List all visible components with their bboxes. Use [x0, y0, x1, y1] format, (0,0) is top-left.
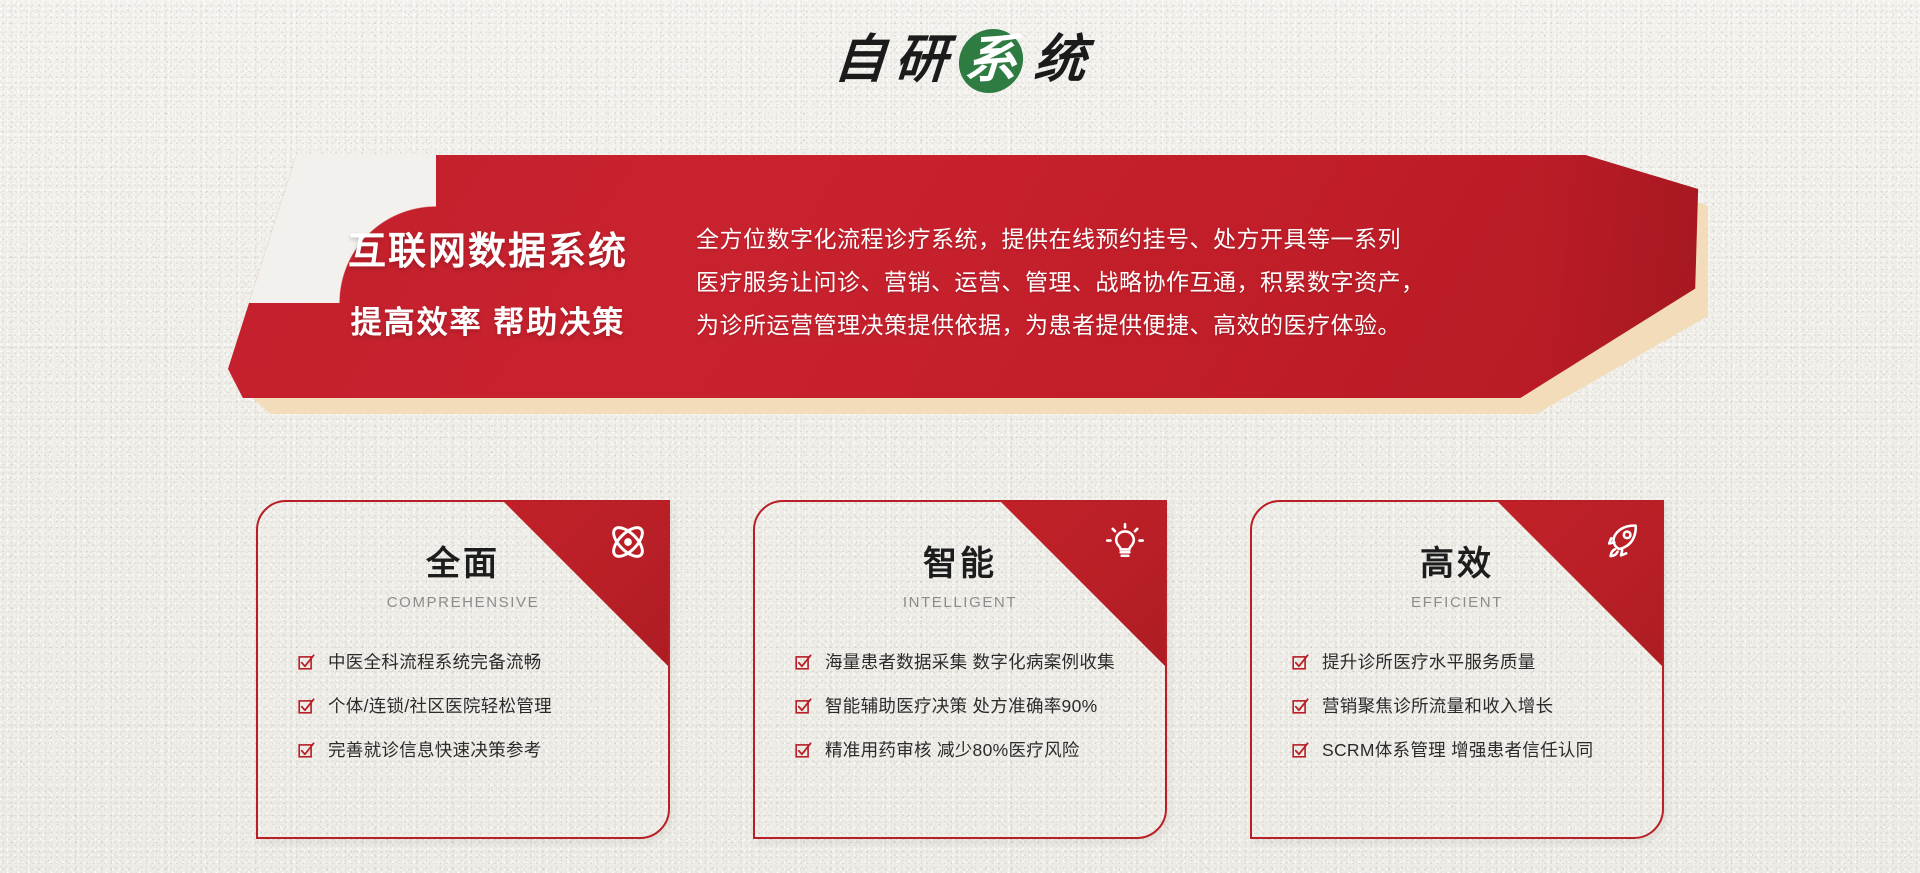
- checkbox-check-icon: [298, 654, 315, 671]
- card-feature-list: 提升诊所医疗水平服务质量 营销聚焦诊所流量和收入增长: [1252, 651, 1662, 761]
- list-item: 智能辅助医疗决策 处方准确率90%: [795, 695, 1165, 718]
- list-item-text: 中医全科流程系统完备流畅: [328, 651, 542, 674]
- list-item: 个体/连锁/社区医院轻松管理: [298, 695, 668, 718]
- list-item-text: SCRM体系管理 增强患者信任认同: [1322, 739, 1594, 762]
- checkbox-check-icon: [298, 698, 315, 715]
- list-item: 精准用药审核 减少80%医疗风险: [795, 739, 1165, 762]
- list-item: 中医全科流程系统完备流畅: [298, 651, 668, 674]
- logo-char-1: 自: [833, 35, 889, 87]
- logo-char-2: 研: [894, 35, 950, 87]
- hero-title: 互联网数据系统: [288, 229, 688, 277]
- checkbox-check-icon: [1292, 654, 1309, 671]
- feature-card-comprehensive[interactable]: 全面 COMPREHENSIVE 中医全科流程系统完备流畅: [256, 500, 670, 839]
- list-item: 海量患者数据采集 数字化病案例收集: [795, 651, 1165, 674]
- lightbulb-icon: [1103, 520, 1147, 564]
- feature-card-efficient[interactable]: 高效 EFFICIENT 提升诊所医疗水平服务质量: [1250, 500, 1664, 839]
- hero-subtitle: 提高效率 帮助决策: [288, 297, 688, 342]
- list-item: 提升诊所医疗水平服务质量: [1292, 651, 1662, 674]
- checkbox-check-icon: [795, 742, 812, 759]
- checkbox-check-icon: [1292, 742, 1309, 759]
- list-item-text: 提升诊所医疗水平服务质量: [1322, 651, 1536, 674]
- logo-char-4: 统: [1032, 35, 1088, 87]
- hero-heading-block: 互联网数据系统 提高效率 帮助决策: [288, 223, 688, 342]
- list-item-text: 海量患者数据采集 数字化病案例收集: [825, 651, 1115, 674]
- checkbox-check-icon: [1292, 698, 1309, 715]
- list-item-text: 智能辅助医疗决策 处方准确率90%: [825, 695, 1098, 718]
- checkbox-check-icon: [795, 654, 812, 671]
- hero-description: 全方位数字化流程诊疗系统，提供在线预约挂号、处方开具等一系列 医疗服务让问诊、营…: [688, 218, 1714, 347]
- logo-char-3-circled: 系: [956, 29, 1024, 93]
- list-item: SCRM体系管理 增强患者信任认同: [1292, 739, 1662, 762]
- rocket-icon: [1600, 520, 1644, 564]
- atom-icon: [606, 520, 650, 564]
- hero-banner: 互联网数据系统 提高效率 帮助决策 全方位数字化流程诊疗系统，提供在线预约挂号、…: [228, 155, 1714, 410]
- list-item-text: 营销聚焦诊所流量和收入增长: [1322, 695, 1553, 718]
- list-item: 营销聚焦诊所流量和收入增长: [1292, 695, 1662, 718]
- feature-card-list: 全面 COMPREHENSIVE 中医全科流程系统完备流畅: [0, 500, 1920, 860]
- brand-logo: 自 研 系 统: [834, 29, 1085, 93]
- card-feature-list: 海量患者数据采集 数字化病案例收集 智能辅助医疗决策 处方准确率90%: [755, 651, 1165, 761]
- hero-paragraph-line-1: 全方位数字化流程诊疗系统，提供在线预约挂号、处方开具等一系列: [696, 218, 1594, 261]
- card-feature-list: 中医全科流程系统完备流畅 个体/连锁/社区医院轻松管理: [258, 651, 668, 761]
- list-item-text: 精准用药审核 减少80%医疗风险: [825, 739, 1080, 762]
- checkbox-check-icon: [795, 698, 812, 715]
- page-header: 自 研 系 统: [0, 22, 1920, 100]
- hero-paragraph-line-3: 为诊所运营管理决策提供依据，为患者提供便捷、高效的医疗体验。: [696, 304, 1594, 347]
- feature-card-intelligent[interactable]: 智能 INTELLIGENT 海量患者数据采集 数字化病案例收集: [753, 500, 1167, 839]
- list-item-text: 完善就诊信息快速决策参考: [328, 739, 542, 762]
- hero-paragraph-line-2: 医疗服务让问诊、营销、运营、管理、战略协作互通，积累数字资产，: [696, 261, 1594, 304]
- list-item: 完善就诊信息快速决策参考: [298, 739, 668, 762]
- list-item-text: 个体/连锁/社区医院轻松管理: [328, 695, 552, 718]
- checkbox-check-icon: [298, 742, 315, 759]
